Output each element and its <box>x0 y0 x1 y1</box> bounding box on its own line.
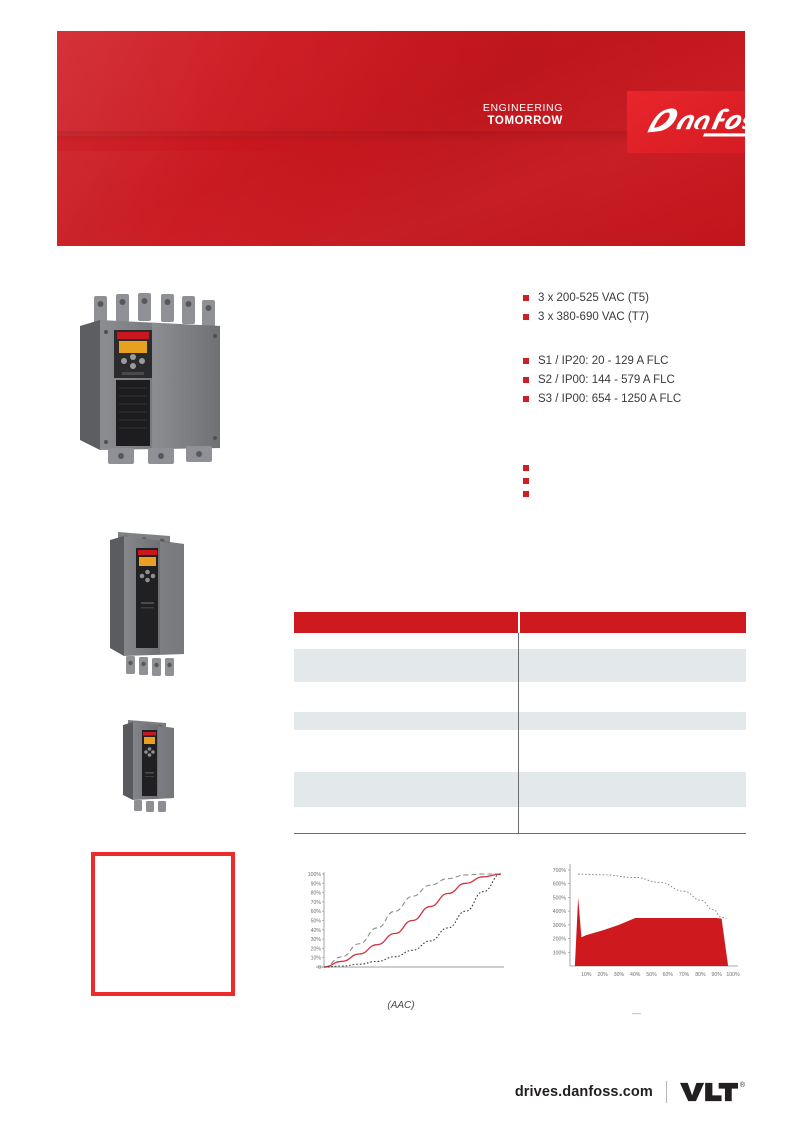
list-item-label: S2 / IP00: 144 - 579 A FLC <box>538 372 675 389</box>
svg-text:80%: 80% <box>311 891 322 897</box>
product-image-small <box>116 712 190 816</box>
svg-text:40%: 40% <box>311 928 322 934</box>
series-current-profile <box>575 897 728 966</box>
table-row <box>294 649 746 682</box>
list-item-label: S1 / IP20: 20 - 129 A FLC <box>538 353 668 370</box>
table-column-divider <box>518 633 519 834</box>
svg-text:30%: 30% <box>614 972 625 978</box>
spec-table <box>294 612 746 834</box>
table-row <box>294 712 746 730</box>
table-row <box>294 772 746 807</box>
svg-text:50%: 50% <box>311 919 322 925</box>
chart-current-profile: 700%600%500%400%300%200%100% 10%20%30%40… <box>528 858 746 986</box>
bullet-square-icon <box>523 295 529 301</box>
svg-text:300%: 300% <box>553 923 567 929</box>
list-item <box>523 460 788 471</box>
bullet-square-icon <box>523 465 529 471</box>
table-header-row <box>294 612 746 633</box>
list-item: 3 x 380-690 VAC (T7) <box>523 309 788 326</box>
spec-bullets: 3 x 200-525 VAC (T5) 3 x 380-690 VAC (T7… <box>523 290 788 499</box>
chart-right-caption: — <box>528 1008 746 1018</box>
banner-facet-lower <box>57 151 434 246</box>
svg-text:90%: 90% <box>311 881 322 887</box>
y-tick-labels: 700%600%500%400%300%200%100% <box>553 868 570 956</box>
group-gap <box>523 328 788 353</box>
series-motor-torque-limit <box>578 874 726 918</box>
svg-text:10%: 10% <box>311 956 322 962</box>
svg-text:200%: 200% <box>553 937 567 943</box>
table-header-cell-1 <box>294 612 518 633</box>
bullet-square-icon <box>523 491 529 497</box>
svg-text:100%: 100% <box>553 950 567 956</box>
qr-code-placeholder <box>91 852 235 996</box>
footer-url[interactable]: drives.danfoss.com <box>515 1084 653 1100</box>
svg-text:70%: 70% <box>679 972 690 978</box>
tagline-line1: ENGINEERING <box>483 103 563 115</box>
tagline: ENGINEERING TOMORROW <box>483 103 563 128</box>
bullet-square-icon <box>523 314 529 320</box>
svg-text:100%: 100% <box>726 972 740 978</box>
list-item: S1 / IP20: 20 - 129 A FLC <box>523 353 788 370</box>
frame-group: S1 / IP20: 20 - 129 A FLC S2 / IP00: 144… <box>523 353 788 408</box>
y-tick-labels: 100%90%80%70%60%50%40%30%20%10%0 <box>308 872 324 971</box>
empty-group <box>523 460 788 497</box>
svg-text:600%: 600% <box>553 882 567 888</box>
voltage-group: 3 x 200-525 VAC (T5) 3 x 380-690 VAC (T7… <box>523 290 788 326</box>
list-item: S3 / IP00: 654 - 1250 A FLC <box>523 391 788 408</box>
chart-current-svg: 700%600%500%400%300%200%100% 10%20%30%40… <box>528 858 746 986</box>
series-group <box>575 874 728 966</box>
danfoss-logo-icon <box>638 100 746 144</box>
table-header-cell-2 <box>520 612 746 633</box>
svg-text:40%: 40% <box>630 972 641 978</box>
table-bottom-rule <box>294 833 746 834</box>
document-page: ENGINEERING TOMORROW <box>0 0 802 1134</box>
list-item: 3 x 200-525 VAC (T5) <box>523 290 788 307</box>
svg-text:30%: 30% <box>311 937 322 943</box>
chart-left-caption: (AAC) <box>296 1000 506 1011</box>
chart-ramp-curves: 100%90%80%70%60%50%40%30%20%10%0 <box>296 864 506 984</box>
svg-text:70%: 70% <box>311 900 322 906</box>
bullet-square-icon <box>523 478 529 484</box>
list-item <box>523 473 788 484</box>
svg-text:100%: 100% <box>308 872 322 878</box>
footer: drives.danfoss.com ® <box>0 1081 802 1115</box>
bullet-square-icon <box>523 377 529 383</box>
list-item <box>523 486 788 497</box>
svg-text:80%: 80% <box>695 972 706 978</box>
vlt-logo: ® <box>680 1081 745 1103</box>
svg-text:10%: 10% <box>581 972 592 978</box>
footer-divider <box>666 1081 667 1103</box>
footer-content: drives.danfoss.com ® <box>515 1081 745 1103</box>
svg-text:0: 0 <box>318 965 321 971</box>
svg-text:500%: 500% <box>553 895 567 901</box>
svg-text:700%: 700% <box>553 868 567 874</box>
registered-mark: ® <box>740 1082 745 1089</box>
svg-text:60%: 60% <box>663 972 674 978</box>
tagline-line2: TOMORROW <box>483 115 563 128</box>
svg-text:90%: 90% <box>712 972 723 978</box>
bullet-square-icon <box>523 396 529 402</box>
group-gap <box>523 410 788 460</box>
svg-text:400%: 400% <box>553 909 567 915</box>
series-group <box>324 874 501 967</box>
vlt-logo-icon <box>680 1081 738 1103</box>
danfoss-logo-box <box>627 91 745 153</box>
series-medium-ramp <box>324 874 501 967</box>
list-item-label: 3 x 380-690 VAC (T7) <box>538 309 649 326</box>
list-item-label: 3 x 200-525 VAC (T5) <box>538 290 649 307</box>
x-tick-labels: 10%20%30%40%50%60%70%80%90%100% <box>581 972 740 978</box>
header-banner: ENGINEERING TOMORROW <box>57 31 745 246</box>
list-item-label: S3 / IP00: 654 - 1250 A FLC <box>538 391 681 408</box>
product-image-medium <box>100 518 200 693</box>
chart-ramp-svg: 100%90%80%70%60%50%40%30%20%10%0 <box>296 864 506 984</box>
svg-text:20%: 20% <box>597 972 608 978</box>
bullet-square-icon <box>523 358 529 364</box>
product-image-large <box>72 288 240 474</box>
svg-text:60%: 60% <box>311 909 322 915</box>
list-item: S2 / IP00: 144 - 579 A FLC <box>523 372 788 389</box>
svg-text:50%: 50% <box>646 972 657 978</box>
svg-text:20%: 20% <box>311 946 322 952</box>
